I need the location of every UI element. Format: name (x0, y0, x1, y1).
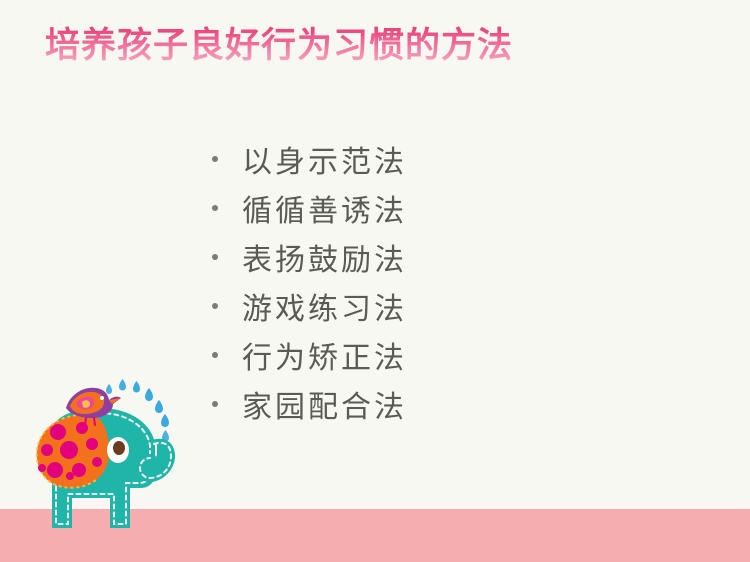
list-item-label: 循循善诱法 (242, 186, 407, 230)
list-item: 游戏练习法 (208, 281, 407, 330)
bullet-dot-icon (212, 254, 218, 260)
list-item-label: 行为矫正法 (242, 333, 407, 377)
list-item-label: 家园配合法 (242, 382, 407, 426)
bullet-dot-icon (212, 303, 218, 309)
list-item: 以身示范法 (208, 134, 407, 183)
list-item: 行为矫正法 (208, 330, 407, 379)
elephant-with-bird-illustration (14, 378, 199, 543)
list-item-label: 以身示范法 (242, 137, 407, 181)
list-item-label: 游戏练习法 (242, 284, 407, 328)
list-item: 循循善诱法 (208, 183, 407, 232)
list-item-label: 表扬鼓励法 (242, 235, 407, 279)
method-list: 以身示范法 循循善诱法 表扬鼓励法 游戏练习法 行为矫正法 家园配合法 (208, 134, 407, 428)
bullet-dot-icon (212, 156, 218, 162)
bullet-dot-icon (212, 205, 218, 211)
elephant-eye-icon (107, 437, 129, 463)
page-title: 培养孩子良好行为习惯的方法 (45, 17, 513, 68)
list-item: 表扬鼓励法 (208, 232, 407, 281)
elephant-ear-icon (37, 415, 110, 488)
bullet-dot-icon (212, 401, 218, 407)
slide-canvas: 培养孩子良好行为习惯的方法 以身示范法 循循善诱法 表扬鼓励法 游戏练习法 行为… (0, 0, 750, 562)
list-item: 家园配合法 (208, 379, 407, 428)
bullet-dot-icon (212, 352, 218, 358)
